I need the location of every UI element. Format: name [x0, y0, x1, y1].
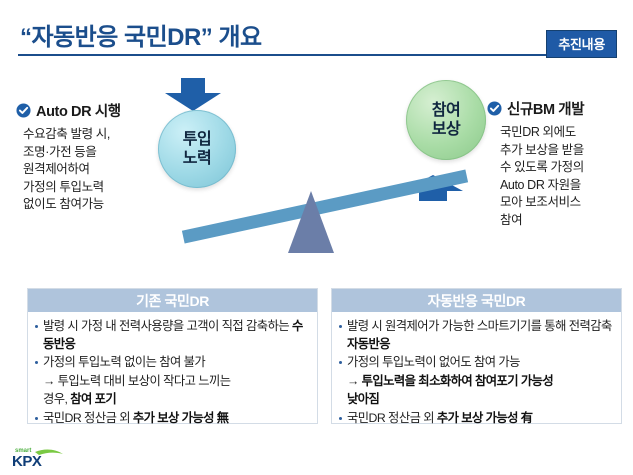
list-subitem-text: → 투입노력 대비 보상이 작다고 느끼는 — [43, 374, 231, 388]
list-item-text: 발령 시 원격제어가 가능한 스마트기기를 통해 전력감축 — [347, 319, 612, 333]
callout-new-bm-heading: 신규BM 개발 — [487, 98, 629, 119]
panel-auto-dr-body: 발령 시 원격제어가 가능한 스마트기기를 통해 전력감축 자동반응 가정의 투… — [332, 312, 621, 427]
slide-canvas: “자동반응 국민DR” 개요 추진내용 Auto DR 시행 수요감축 발령 시… — [0, 0, 633, 475]
list-item: 국민DR 정산금 외 추가 보상 가능성 無 — [34, 410, 312, 428]
circle-input-effort-line2: 노력 — [183, 149, 211, 168]
list-item-text: 국민DR 정산금 외 — [43, 411, 133, 425]
circle-input-effort: 투입 노력 — [158, 110, 236, 188]
panel-legacy-dr: 기존 국민DR 발령 시 가정 내 전력사용량을 고객이 직접 감축하는 수동반… — [27, 288, 318, 424]
list-item: 발령 시 원격제어가 가능한 스마트기기를 통해 전력감축 자동반응 — [338, 318, 616, 353]
list-subitem: → 투입노력 대비 보상이 작다고 느끼는 — [34, 373, 312, 391]
callout-auto-dr: Auto DR 시행 수요감축 발령 시, 조명·가전 등을 원격제어하여 가정… — [16, 100, 166, 214]
list-subitem-emphasis: 낮아짐 — [347, 392, 379, 406]
list-item-text: 국민DR 정산금 외 — [347, 411, 437, 425]
list-item-emphasis: 추가 보상 가능성 有 — [437, 411, 533, 425]
list-item-text: 발령 시 가정 내 전력사용량을 고객이 직접 감축하는 — [43, 319, 292, 333]
list-subitem-continued: 경우, 참여 포기 — [34, 391, 312, 409]
list-subitem-continued: 낮아짐 — [338, 391, 616, 409]
panel-auto-dr: 자동반응 국민DR 발령 시 원격제어가 가능한 스마트기기를 통해 전력감축 … — [331, 288, 622, 424]
callout-new-bm-body: 국민DR 외에도 추가 보상을 받을 수 있도록 가정의 Auto DR 자원을… — [487, 124, 629, 229]
callout-new-bm: 신규BM 개발 국민DR 외에도 추가 보상을 받을 수 있도록 가정의 Aut… — [487, 98, 629, 229]
list-subitem-text: 경우, — [43, 392, 70, 406]
list-item: 국민DR 정산금 외 추가 보상 가능성 有 — [338, 410, 616, 428]
callout-new-bm-title: 신규BM 개발 — [507, 98, 584, 119]
callout-line: 국민DR 외에도 — [500, 124, 629, 142]
seesaw-diagram: 투입 노력 참여 보상 — [150, 78, 495, 263]
list-item: 가정의 투입노력 없이는 참여 불가 — [34, 354, 312, 372]
callout-auto-dr-heading: Auto DR 시행 — [16, 100, 166, 121]
list-subitem-text: → — [347, 374, 362, 388]
list-item-text: 가정의 투입노력이 없어도 참여 가능 — [347, 355, 520, 369]
list-item-emphasis: 자동반응 — [347, 337, 390, 351]
list-item: 발령 시 가정 내 전력사용량을 고객이 직접 감축하는 수동반응 — [34, 318, 312, 353]
circle-participation-reward-line2: 보상 — [432, 120, 460, 139]
callout-line: 참여 — [500, 212, 629, 230]
callout-line: Auto DR 자원을 — [500, 177, 629, 195]
title-divider — [18, 54, 615, 56]
list-item-emphasis: 추가 보상 가능성 無 — [133, 411, 229, 425]
panel-auto-dr-title: 자동반응 국민DR — [332, 289, 621, 312]
callout-line: 없이도 참여가능 — [23, 196, 166, 214]
circle-input-effort-line1: 투입 — [183, 130, 211, 149]
callout-line: 추가 보상을 받을 — [500, 142, 629, 160]
list-subitem: → 투입노력을 최소화하여 참여포기 가능성 — [338, 373, 616, 391]
check-circle-icon — [16, 103, 31, 118]
list-item: 가정의 투입노력이 없어도 참여 가능 — [338, 354, 616, 372]
seesaw-fulcrum — [288, 191, 334, 253]
page-title: “자동반응 국민DR” 개요 — [20, 17, 262, 52]
callout-line: 원격제어하여 — [23, 161, 166, 179]
panel-legacy-dr-title: 기존 국민DR — [28, 289, 317, 312]
svg-text:KPX: KPX — [12, 453, 42, 469]
callout-line: 가정의 투입노력 — [23, 179, 166, 197]
list-subitem-emphasis: 참여 포기 — [70, 392, 116, 406]
callout-auto-dr-body: 수요감축 발령 시, 조명·가전 등을 원격제어하여 가정의 투입노력 없이도 … — [16, 126, 166, 214]
callout-line: 수요감축 발령 시, — [23, 126, 166, 144]
circle-participation-reward-line1: 참여 — [432, 101, 460, 120]
callout-auto-dr-title: Auto DR 시행 — [36, 100, 121, 121]
list-item-text: 가정의 투입노력 없이는 참여 불가 — [43, 355, 205, 369]
section-badge: 추진내용 — [546, 30, 617, 58]
circle-participation-reward: 참여 보상 — [406, 80, 486, 160]
kpx-logo: smart KPX — [9, 443, 67, 469]
callout-line: 조명·가전 등을 — [23, 144, 166, 162]
callout-line: 수 있도록 가정의 — [500, 159, 629, 177]
panel-legacy-dr-body: 발령 시 가정 내 전력사용량을 고객이 직접 감축하는 수동반응 가정의 투입… — [28, 312, 317, 427]
list-subitem-emphasis: 투입노력을 최소화하여 참여포기 가능성 — [362, 374, 554, 388]
callout-line: 모아 보조서비스 — [500, 194, 629, 212]
